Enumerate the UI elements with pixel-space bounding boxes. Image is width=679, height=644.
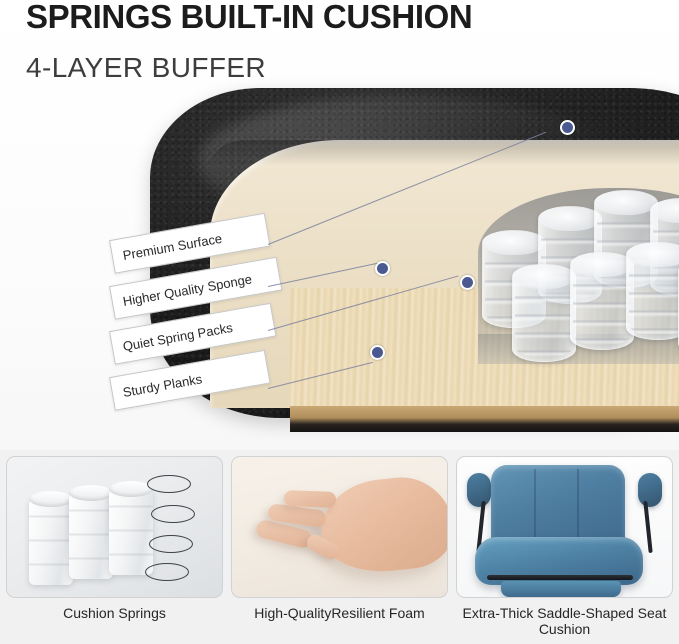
page-subtitle: 4-LAYER BUFFER xyxy=(26,52,266,84)
feature-panel-saddle-seat[interactable]: Extra-Thick Saddle-Shaped Seat Cushion xyxy=(456,456,673,644)
marker-dot-springs xyxy=(460,275,475,290)
spring-coil xyxy=(512,264,576,362)
spring-pocket-top xyxy=(69,485,113,501)
page-title: SPRINGS BUILT-IN CUSHION xyxy=(26,0,472,36)
panel-caption: Cushion Springs xyxy=(63,605,166,621)
marker-dot-sponge xyxy=(375,261,390,276)
feature-panel-cushion-springs[interactable]: Cushion Springs xyxy=(6,456,223,644)
blue-office-chair-photo xyxy=(456,456,673,598)
spring-pocket xyxy=(29,497,73,585)
product-infographic: Premium Surface Higher Quality Sponge Qu… xyxy=(0,0,679,644)
feature-panels: Cushion Springs High-QualityResilient Fo… xyxy=(0,456,679,644)
coil-wire-loop xyxy=(145,563,189,581)
header: SPRINGS BUILT-IN CUSHION 4-LAYER BUFFER xyxy=(0,0,679,100)
spring-coil xyxy=(626,242,679,340)
feature-panel-resilient-foam[interactable]: High-QualityResilient Foam xyxy=(231,456,448,644)
pocket-spring-photo xyxy=(6,456,223,598)
marker-dot-premium-surface xyxy=(560,120,575,135)
marker-dot-planks xyxy=(370,345,385,360)
chair-base-bar xyxy=(487,575,633,580)
spring-pack-group xyxy=(478,184,679,389)
chair-footrest xyxy=(501,581,621,597)
hand-pressing-foam-photo xyxy=(231,456,448,598)
coil-wire-loop xyxy=(151,505,195,523)
chair-armrest-right xyxy=(638,473,662,507)
sponge-shading xyxy=(210,140,679,166)
feature-panel-band: Cushion Springs High-QualityResilient Fo… xyxy=(0,450,679,644)
chair-armrest-left xyxy=(467,473,491,507)
plank-edge xyxy=(290,406,679,432)
coil-wire-loop xyxy=(147,475,191,493)
spring-pocket-top xyxy=(29,491,73,507)
callout-label: Sturdy Planks xyxy=(122,371,204,400)
panel-caption: High-QualityResilient Foam xyxy=(254,605,424,621)
spring-pocket xyxy=(109,487,153,575)
panel-caption: Extra-Thick Saddle-Shaped Seat Cushion xyxy=(456,605,673,637)
coil-wire-loop xyxy=(149,535,193,553)
hand-finger xyxy=(284,490,337,508)
chair-arm-post-right xyxy=(643,501,652,553)
spring-pocket xyxy=(69,491,113,579)
spring-coil xyxy=(570,252,634,350)
